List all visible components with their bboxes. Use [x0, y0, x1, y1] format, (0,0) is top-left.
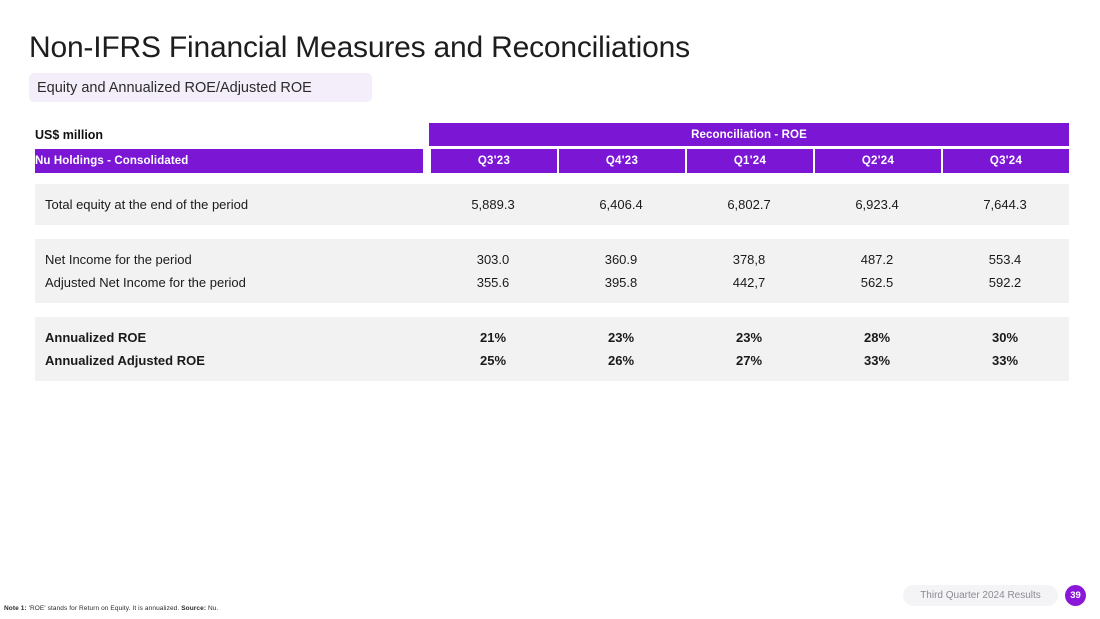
page-title: Non-IFRS Financial Measures and Reconcil… — [29, 31, 690, 65]
row-value: 6,406.4 — [557, 193, 685, 216]
column-group-header: Reconciliation - ROE — [429, 123, 1069, 146]
subtitle-pill: Equity and Annualized ROE/Adjusted ROE — [29, 73, 372, 102]
row-value: 6,923.4 — [813, 193, 941, 216]
group-pad-cell — [35, 294, 1069, 303]
footnote-note-prefix: Note 1: — [4, 605, 27, 612]
row-group-gap-cell — [35, 303, 1069, 317]
group-pad-cell — [35, 184, 1069, 193]
row-label: Annualized ROE — [35, 326, 429, 349]
column-header-q4-23: Q4'23 — [557, 149, 685, 173]
row-value: 592.2 — [941, 271, 1069, 294]
subtitle-text: Equity and Annualized ROE/Adjusted ROE — [29, 80, 312, 96]
group-pad-top — [35, 184, 1069, 193]
row-value: 303.0 — [429, 248, 557, 271]
row-value: 378,8 — [685, 248, 813, 271]
row-group-gap — [35, 225, 1069, 239]
row-value: 360.9 — [557, 248, 685, 271]
table-row: Total equity at the end of the period 5,… — [35, 193, 1069, 216]
footnote: Note 1: 'ROE' stands for Return on Equit… — [4, 605, 218, 612]
row-value: 33% — [813, 349, 941, 372]
table-body: Total equity at the end of the period 5,… — [35, 173, 1069, 381]
row-label: Adjusted Net Income for the period — [35, 271, 429, 294]
table-row: Adjusted Net Income for the period 355.6… — [35, 271, 1069, 294]
entity-label: Nu Holdings - Consolidated — [35, 149, 429, 173]
table-row: Annualized ROE 21% 23% 23% 28% 30% — [35, 326, 1069, 349]
group-pad-cell — [35, 317, 1069, 326]
row-value: 23% — [557, 326, 685, 349]
table-row: Annualized Adjusted ROE 25% 26% 27% 33% … — [35, 349, 1069, 372]
row-value: 395.8 — [557, 271, 685, 294]
row-value: 355.6 — [429, 271, 557, 294]
row-label: Annualized Adjusted ROE — [35, 349, 429, 372]
group-pad-top — [35, 317, 1069, 326]
row-label: Total equity at the end of the period — [35, 193, 429, 216]
footnote-source: Nu. — [208, 605, 218, 612]
table-head: US$ million Reconciliation - ROE Nu Hold… — [35, 123, 1069, 173]
page-number-badge: 39 — [1065, 585, 1086, 606]
row-group-gap-cell — [35, 173, 1069, 184]
row-value: 442,7 — [685, 271, 813, 294]
row-value: 487.2 — [813, 248, 941, 271]
row-value: 28% — [813, 326, 941, 349]
table-header-top-row: US$ million Reconciliation - ROE — [35, 123, 1069, 146]
table-row: Net Income for the period 303.0 360.9 37… — [35, 248, 1069, 271]
row-value: 26% — [557, 349, 685, 372]
row-label: Net Income for the period — [35, 248, 429, 271]
deck-label-pill: Third Quarter 2024 Results — [903, 585, 1058, 606]
row-value: 7,644.3 — [941, 193, 1069, 216]
column-header-q2-24: Q2'24 — [813, 149, 941, 173]
row-group-gap — [35, 303, 1069, 317]
row-value: 5,889.3 — [429, 193, 557, 216]
unit-label: US$ million — [35, 123, 429, 146]
column-header-q1-24: Q1'24 — [685, 149, 813, 173]
row-group-gap — [35, 173, 1069, 184]
row-value: 6,802.7 — [685, 193, 813, 216]
reconciliation-table-wrapper: US$ million Reconciliation - ROE Nu Hold… — [35, 123, 1069, 381]
row-value: 25% — [429, 349, 557, 372]
row-value: 30% — [941, 326, 1069, 349]
row-value: 33% — [941, 349, 1069, 372]
group-pad-bottom — [35, 216, 1069, 225]
row-value: 562.5 — [813, 271, 941, 294]
group-pad-cell — [35, 372, 1069, 381]
row-value: 23% — [685, 326, 813, 349]
group-pad-bottom — [35, 294, 1069, 303]
table-header-columns-row: Nu Holdings - Consolidated Q3'23 Q4'23 Q… — [35, 149, 1069, 173]
row-group-gap-cell — [35, 225, 1069, 239]
group-pad-top — [35, 239, 1069, 248]
footnote-source-prefix: Source: — [181, 605, 206, 612]
column-header-q3-24: Q3'24 — [941, 149, 1069, 173]
footnote-text: 'ROE' stands for Return on Equity. It is… — [29, 605, 180, 612]
row-value: 553.4 — [941, 248, 1069, 271]
deck-label-text: Third Quarter 2024 Results — [920, 590, 1041, 601]
row-value: 27% — [685, 349, 813, 372]
row-value: 21% — [429, 326, 557, 349]
group-pad-cell — [35, 216, 1069, 225]
group-pad-bottom — [35, 372, 1069, 381]
group-pad-cell — [35, 239, 1069, 248]
column-header-q3-23: Q3'23 — [429, 149, 557, 173]
reconciliation-table: US$ million Reconciliation - ROE Nu Hold… — [35, 123, 1069, 381]
